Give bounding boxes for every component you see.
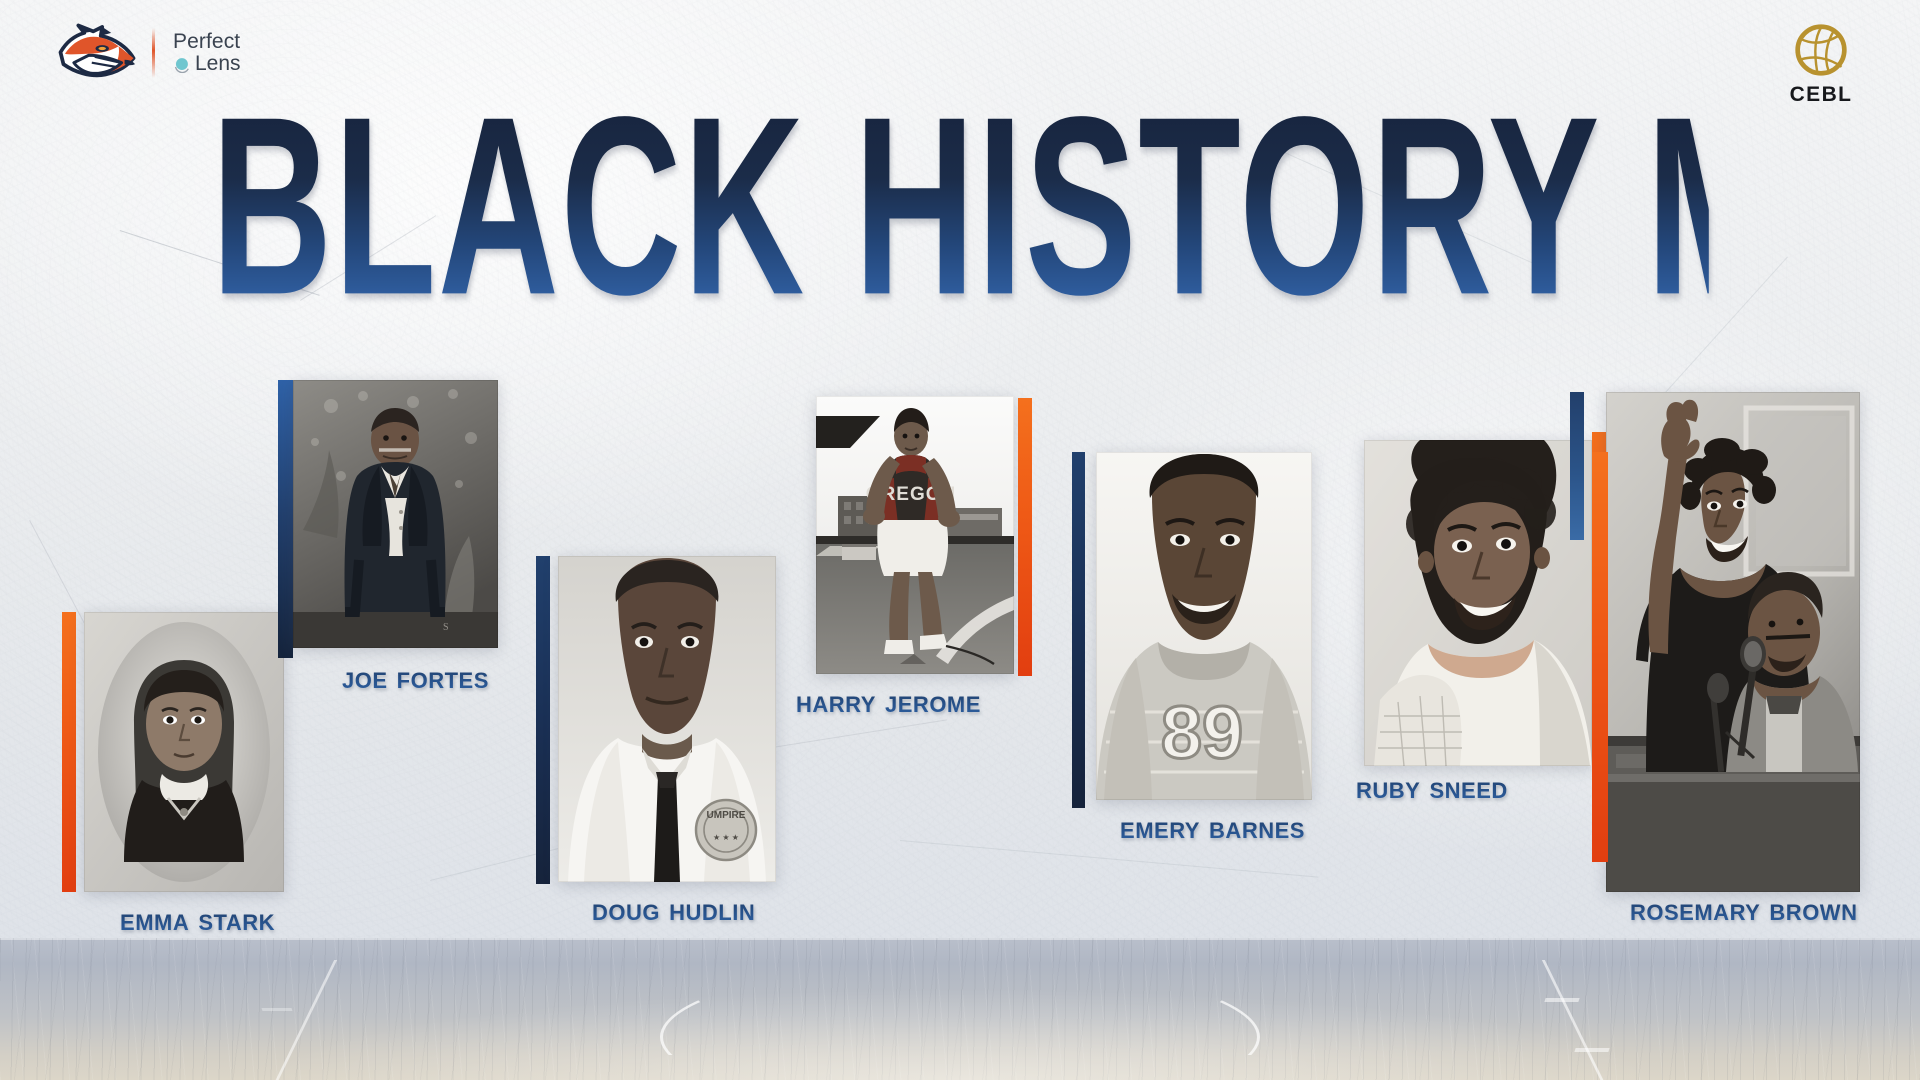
portrait-photo-ruby-sneed: [1364, 440, 1592, 766]
honouree-name-harry-jerome: Harry Jerome: [796, 684, 981, 720]
portrait-illustration: [84, 612, 284, 892]
lens-circle-icon: [173, 56, 190, 73]
portrait-illustration: [1606, 392, 1860, 892]
honouree-name-ruby-sneed: Ruby Sneed: [1356, 770, 1508, 806]
svg-text:UMPIRE: UMPIRE: [707, 810, 746, 821]
portrait-illustration: OREGON: [816, 396, 1014, 674]
honouree-name-emery-barnes: Emery Barnes: [1120, 810, 1305, 846]
portrait-illustration: [1364, 440, 1592, 766]
photo-frame: OREGON: [816, 396, 1032, 676]
honouree-name-emma-stark: Emma Stark: [120, 902, 275, 938]
portrait-photo-rosemary-brown: [1606, 392, 1860, 892]
fox-mascot-icon: [56, 22, 138, 84]
svg-text:S: S: [443, 622, 449, 633]
honouree-card-harry-jerome[interactable]: OREGON Harry Jerome: [816, 396, 1032, 676]
portrait-photo-emery-barnes: 89: [1096, 452, 1312, 800]
photo-frame: 89: [1072, 452, 1312, 810]
honouree-card-joe-fortes[interactable]: S Joe Fortes: [278, 380, 498, 660]
portrait-photo-emma-stark: [84, 612, 284, 892]
poster-stage: Perfect Lens CEBL BLACK HISTORY MONTH: [0, 0, 1920, 1080]
honouree-name-joe-fortes: Joe Fortes: [342, 660, 489, 696]
floor-light-glow: [0, 938, 1920, 1080]
page-title: BLACK HISTORY MONTH: [211, 88, 1709, 324]
portrait-photo-harry-jerome: OREGON: [816, 396, 1014, 674]
accent-bar-blue: [278, 380, 293, 658]
logo-divider: [152, 28, 155, 78]
photo-frame: S: [278, 380, 498, 660]
honouree-card-doug-hudlin[interactable]: UMPIRE ★ ★ ★ Doug Hudlin: [536, 556, 776, 886]
accent-bar-navy: [1570, 392, 1584, 540]
accent-bar-navy: [536, 556, 550, 884]
honouree-name-doug-hudlin: Doug Hudlin: [592, 892, 755, 928]
portrait-photo-joe-fortes: S: [293, 380, 498, 648]
court-floor: [0, 938, 1920, 1080]
accent-bar-orange: [1018, 398, 1032, 676]
honouree-name-rosemary-brown: Rosemary Brown: [1630, 892, 1857, 928]
portrait-illustration: S: [293, 380, 498, 648]
brand-line-1: Perfect: [173, 31, 241, 53]
portrait-photo-doug-hudlin: UMPIRE ★ ★ ★: [558, 556, 776, 882]
svg-text:★ ★ ★: ★ ★ ★: [713, 833, 739, 842]
honouree-card-rosemary-brown[interactable]: Rosemary Brown: [1570, 392, 1860, 892]
photo-frame: [1570, 392, 1860, 892]
portrait-illustration: UMPIRE ★ ★ ★: [558, 556, 776, 882]
svg-text:89: 89: [1161, 691, 1243, 774]
accent-bar-orange: [62, 612, 76, 892]
honouree-card-emery-barnes[interactable]: 89 Emery Barnes: [1072, 452, 1312, 810]
portrait-illustration: 89: [1096, 452, 1312, 800]
accent-bar-orange: [1592, 452, 1608, 862]
accent-bar-navy: [1072, 452, 1085, 808]
photo-frame: UMPIRE ★ ★ ★: [536, 556, 776, 886]
